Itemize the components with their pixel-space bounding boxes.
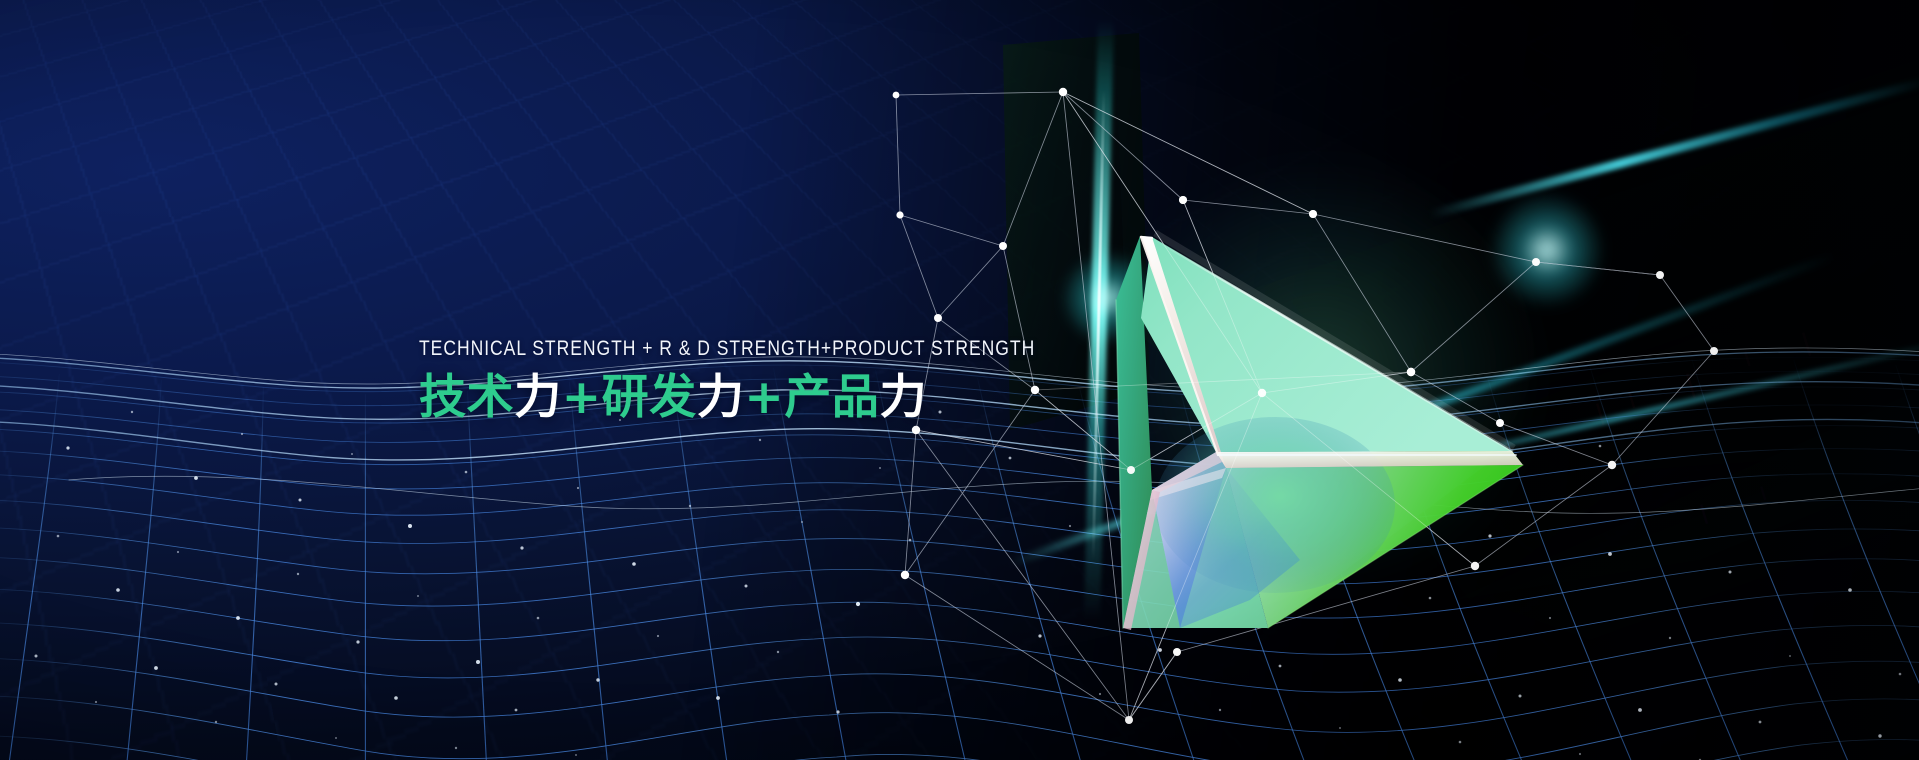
cyan-beam-lower-right — [1379, 335, 1919, 476]
headline-segment-7: 产品 — [784, 370, 879, 425]
cyan-beam-southwest — [1009, 252, 1836, 568]
hero-copy-block: TECHNICAL STRENGTH + R & D STRENGTH+PROD… — [419, 336, 1039, 427]
cyan-beam-northeast — [1429, 76, 1919, 219]
headline-segment-4: 研发 — [602, 370, 697, 425]
vertical-cyan-beam — [1084, 20, 1114, 620]
headline-segment-2: 力 — [514, 370, 562, 425]
cyan-beam-southwest-flare — [1260, 440, 1390, 570]
headline-segment-8: 力 — [879, 370, 927, 425]
cyan-beam-northeast-flare — [1487, 190, 1607, 310]
headline-segment-6: + — [744, 370, 784, 425]
hero-banner: TECHNICAL STRENGTH + R & D STRENGTH+PROD… — [0, 0, 1919, 760]
vertical-cyan-beam-core — [1092, 90, 1106, 560]
headline-text: 技术力+研发力+产品力 — [419, 369, 1039, 427]
prism-ambient-glow — [1105, 165, 1535, 585]
headline-segment-3: + — [562, 370, 602, 425]
eyebrow-text: TECHNICAL STRENGTH + R & D STRENGTH+PROD… — [419, 336, 937, 362]
headline-segment-5: 力 — [697, 370, 745, 425]
vertical-cyan-beam-flare — [1060, 250, 1156, 346]
headline-segment-1: 技术 — [419, 370, 514, 425]
